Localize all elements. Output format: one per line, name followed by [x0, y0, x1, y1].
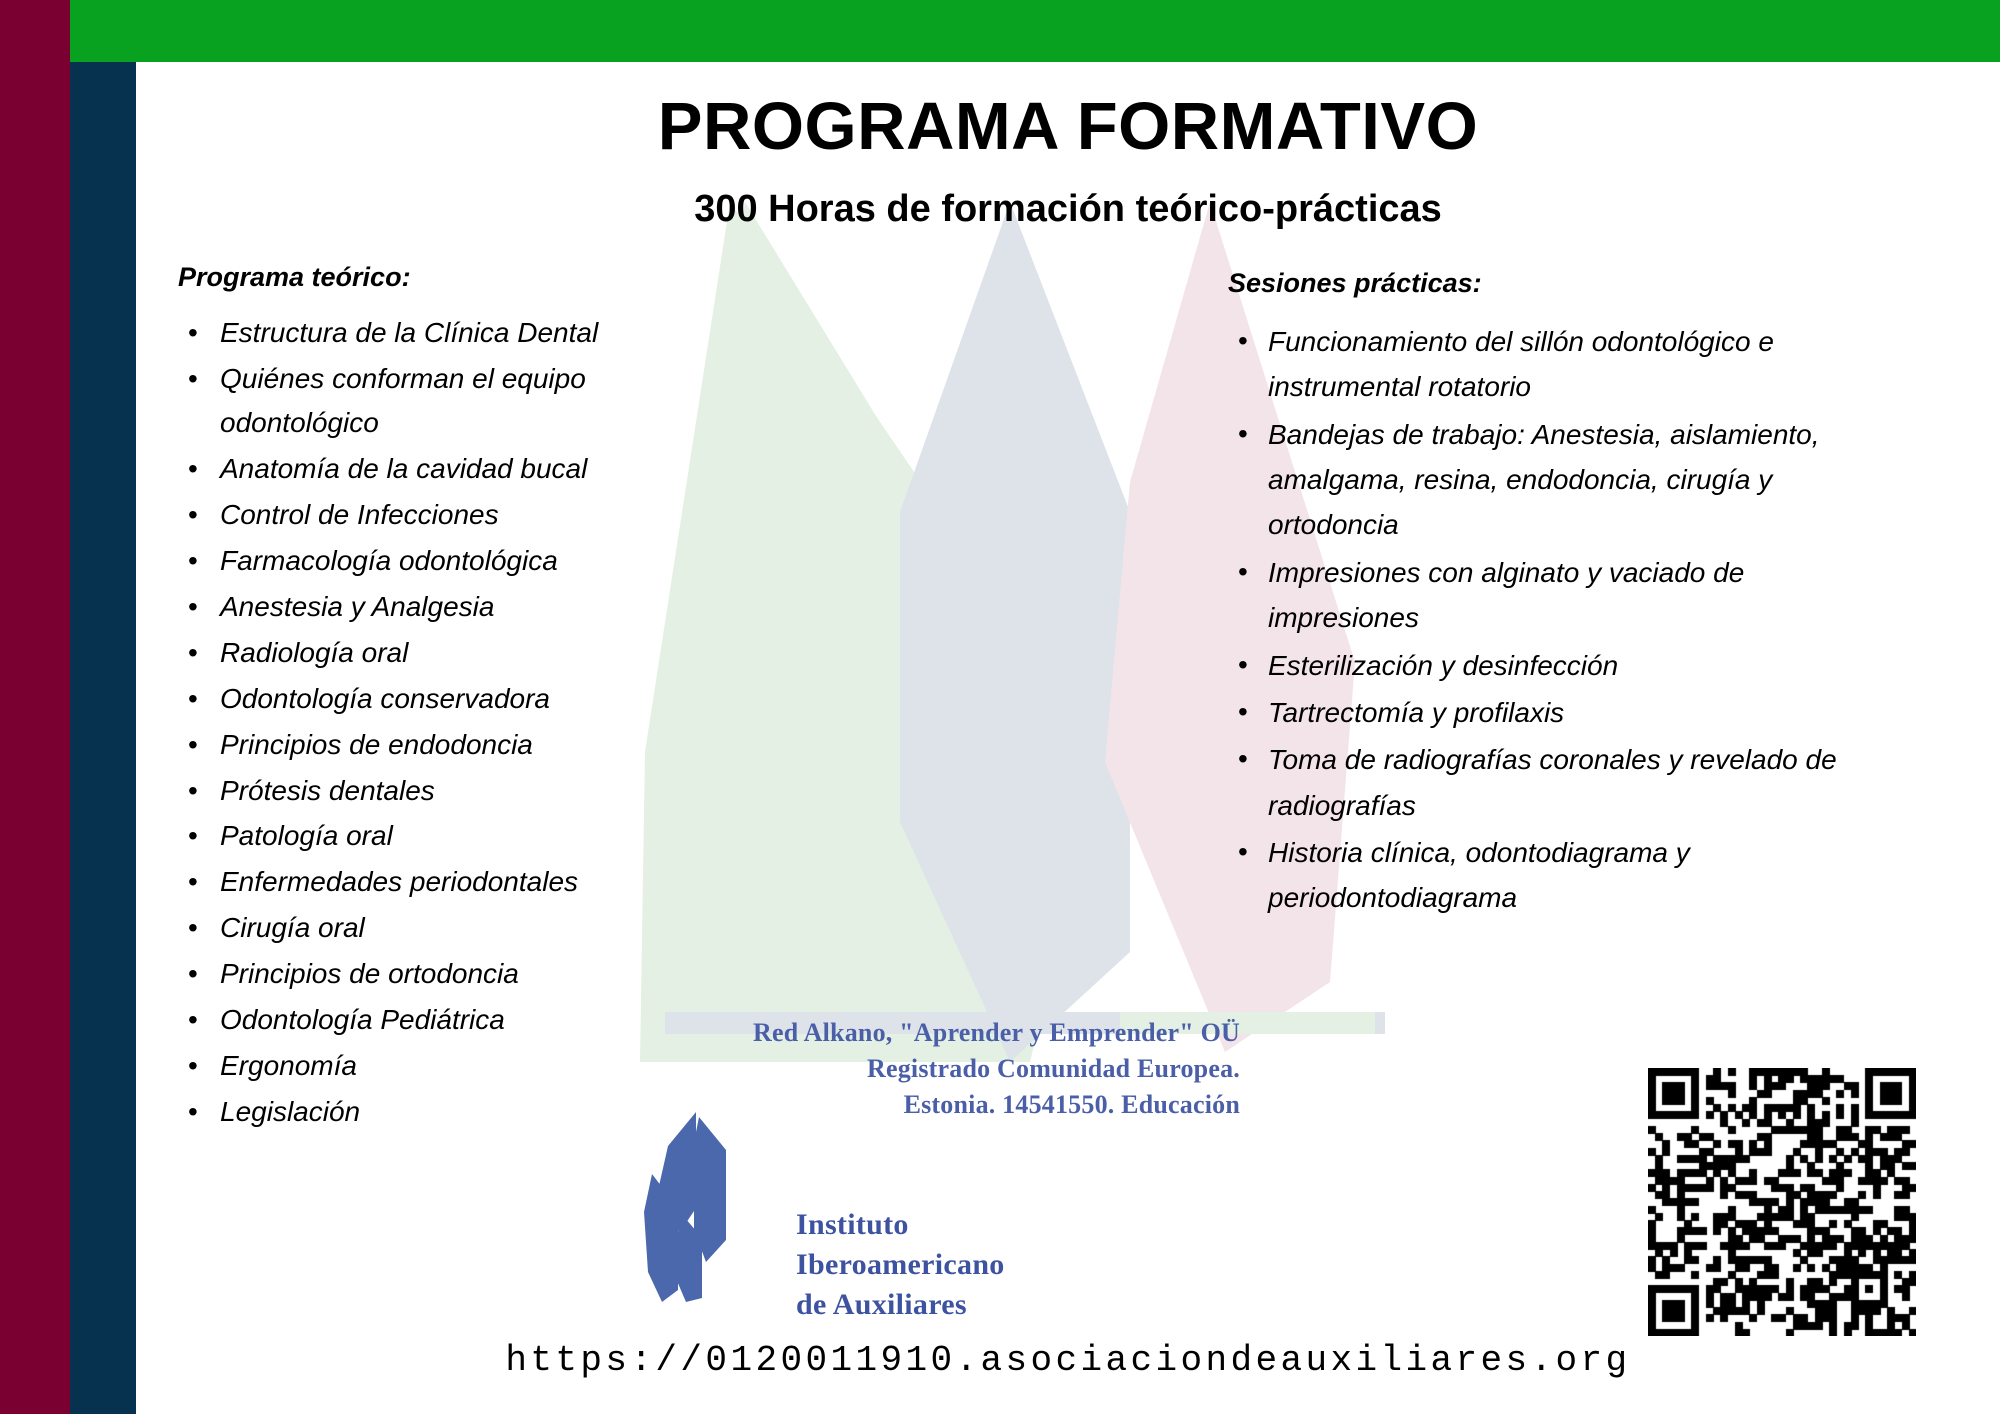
institute-name-line-2: Iberoamericano — [796, 1245, 1005, 1285]
left-accent-bar-maroon — [0, 0, 70, 1414]
list-item: Cirugía oral — [178, 906, 738, 950]
list-item: Esterilización y desinfección — [1228, 643, 1868, 688]
list-item: Radiología oral — [178, 631, 738, 675]
list-item: Prótesis dentales — [178, 769, 738, 813]
list-item: Funcionamiento del sillón odontológico e… — [1228, 319, 1868, 410]
list-item: Patología oral — [178, 814, 738, 858]
list-item: Enfermedades periodontales — [178, 860, 738, 904]
theory-heading: Programa teórico: — [178, 262, 738, 293]
practice-column: Sesiones prácticas: Funcionamiento del s… — [1228, 268, 1868, 923]
institute-name: Instituto Iberoamericano de Auxiliares — [796, 1205, 1005, 1325]
list-item: Estructura de la Clínica Dental — [178, 311, 738, 355]
list-item: Odontología conservadora — [178, 677, 738, 721]
list-item: Principios de ortodoncia — [178, 952, 738, 996]
list-item: Odontología Pediátrica — [178, 998, 738, 1042]
page-subtitle: 300 Horas de formación teórico-prácticas — [136, 188, 2000, 231]
list-item: Control de Infecciones — [178, 493, 738, 537]
list-item: Farmacología odontológica — [178, 539, 738, 583]
list-item: Toma de radiografías coronales y revelad… — [1228, 737, 1868, 828]
list-item: Ergonomía — [178, 1044, 738, 1088]
list-item: Legislación — [178, 1090, 738, 1134]
page-title: PROGRAMA FORMATIVO — [136, 88, 2000, 165]
list-item: Tartrectomía y profilaxis — [1228, 690, 1868, 735]
list-item: Impresiones con alginato y vaciado de im… — [1228, 550, 1868, 641]
list-item: Historia clínica, odontodiagrama y perio… — [1228, 830, 1868, 921]
poster-canvas: PROGRAMA FORMATIVO 300 Horas de formació… — [0, 0, 2000, 1414]
institute-name-line-1: Instituto — [796, 1205, 1005, 1245]
institute-name-line-3: de Auxiliares — [796, 1285, 1005, 1325]
theory-list: Estructura de la Clínica DentalQuiénes c… — [178, 311, 738, 1134]
list-item: Anestesia y Analgesia — [178, 585, 738, 629]
list-item: Quiénes conforman el equipo odontológico — [178, 357, 738, 445]
list-item: Bandejas de trabajo: Anestesia, aislamie… — [1228, 412, 1868, 548]
left-accent-bar-navy — [70, 62, 136, 1414]
list-item: Principios de endodoncia — [178, 723, 738, 767]
practice-list: Funcionamiento del sillón odontológico e… — [1228, 319, 1868, 921]
list-item: Anatomía de la cavidad bucal — [178, 447, 738, 491]
institute-mark-icon — [632, 1112, 762, 1302]
theory-column: Programa teórico: Estructura de la Clíni… — [178, 262, 738, 1136]
top-accent-bar-green — [70, 0, 2000, 62]
practice-heading: Sesiones prácticas: — [1228, 268, 1868, 299]
qr-code[interactable] — [1648, 1068, 1916, 1336]
website-url[interactable]: https://0120011910.asociaciondeauxiliare… — [136, 1340, 2000, 1381]
